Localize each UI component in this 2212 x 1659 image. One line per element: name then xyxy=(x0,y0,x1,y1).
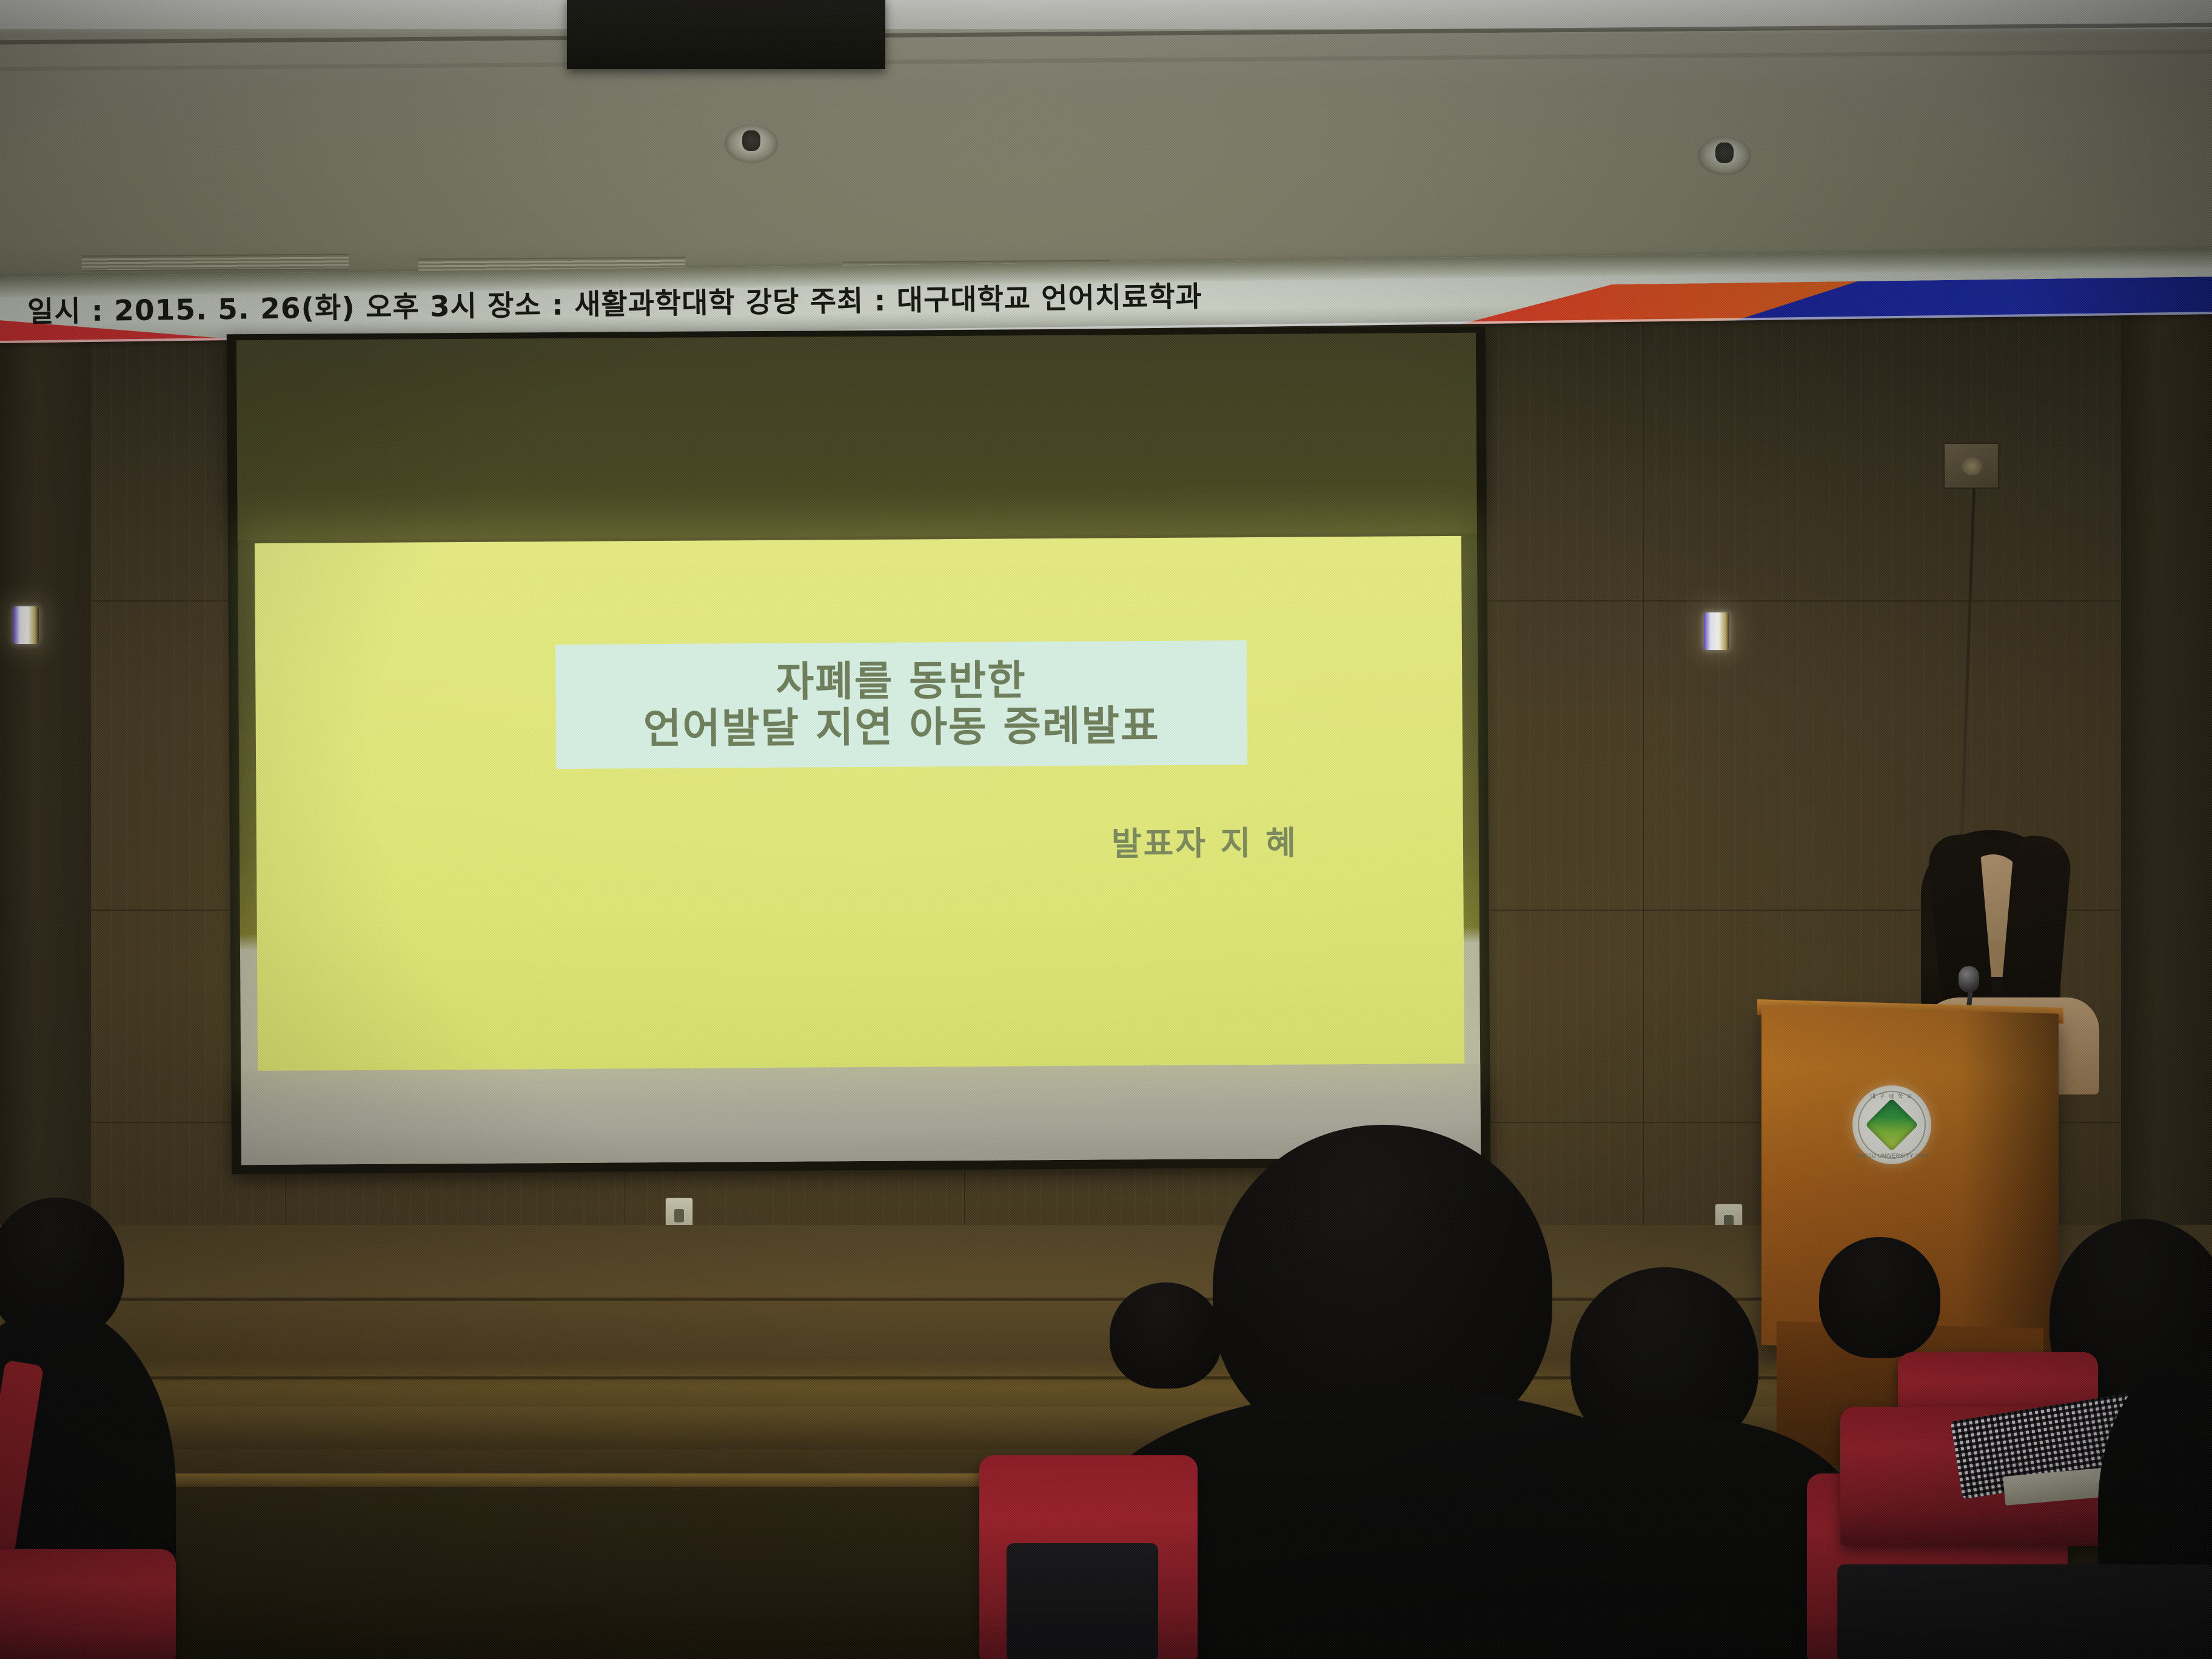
wall-pilaster-left xyxy=(0,315,91,1261)
ceiling-far-band xyxy=(0,0,2212,29)
screen-upper-band xyxy=(236,333,1477,540)
ceiling-air-vent xyxy=(82,253,349,271)
podium-shadow xyxy=(1962,1011,2059,1353)
slide-title-line-1: 자폐를 동반한 xyxy=(776,660,1027,703)
audience-head xyxy=(1819,1237,1940,1358)
wall-sconce-light-icon xyxy=(13,606,39,644)
projected-slide: 자폐를 동반한 언어발달 지연 아동 증례발표 발표자 지 혜 xyxy=(255,536,1464,1071)
seat-armrest xyxy=(1007,1543,1158,1659)
projection-glow xyxy=(240,528,1479,1081)
wall-speaker-box xyxy=(1943,443,1999,489)
university-emblem-icon: 대 구 대 학 교 DAEGU UNIVERSITY 1956 xyxy=(1852,1085,1931,1164)
emblem-caption-bottom: DAEGU UNIVERSITY 1956 xyxy=(1852,1153,1931,1159)
ceiling-downlight-icon xyxy=(1698,136,1751,175)
seat-armrest xyxy=(1837,1564,2212,1659)
slide-presenter-name: 발표자 지 혜 xyxy=(1111,816,1298,865)
microphone-icon xyxy=(1959,966,1979,993)
emblem-caption-top: 대 구 대 학 교 xyxy=(1852,1092,1931,1100)
ceiling-seam xyxy=(0,50,2212,72)
screen-surface: 자폐를 동반한 언어발달 지연 아동 증례발표 발표자 지 혜 xyxy=(236,333,1481,1165)
ceiling xyxy=(0,0,2212,285)
wall-panel-seam xyxy=(1643,315,1644,1261)
wall-pilaster-right xyxy=(2121,315,2212,1261)
ceiling-projector-box xyxy=(567,0,885,69)
projection-screen: 자폐를 동반한 언어발달 지연 아동 증례발표 발표자 지 혜 xyxy=(227,327,1490,1175)
wall-sconce-light-icon xyxy=(1704,612,1729,650)
slide-title-line-2: 언어발달 지연 아동 증례발표 xyxy=(643,705,1160,750)
auditorium-photo: 일시 : 2015. 5. 26(화) 오후 3시 장소 : 새활과학대학 강당… xyxy=(0,0,2212,1659)
auditorium-seat xyxy=(0,1549,176,1659)
audience-head xyxy=(1110,1282,1222,1389)
ceiling-downlight-icon xyxy=(725,124,778,163)
slide-title-box: 자폐를 동반한 언어발달 지연 아동 증례발표 xyxy=(555,640,1247,769)
